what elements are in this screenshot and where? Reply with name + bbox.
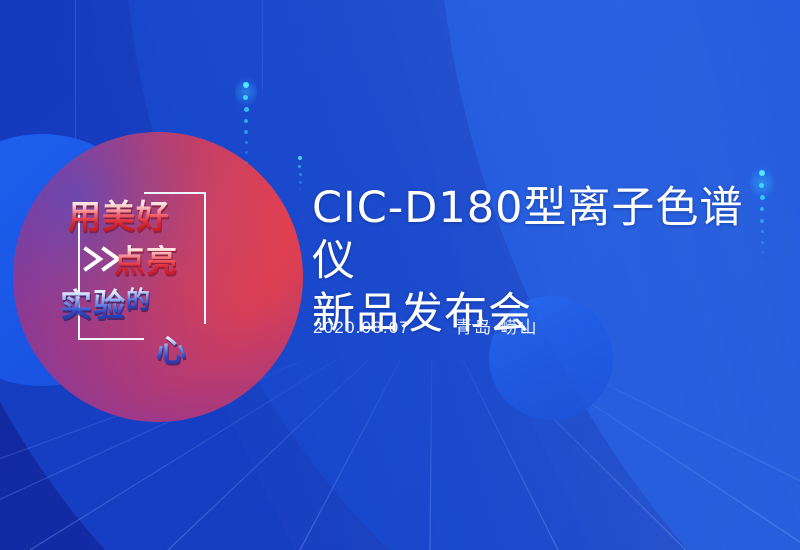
slogan-row-3: 实验的 — [60, 280, 151, 326]
dot-trail-glow-1 — [235, 74, 257, 110]
slogan-char: 实 — [60, 280, 93, 326]
slogan-emblem: 用美好 点亮 实验的 心 — [52, 168, 232, 368]
slogan-row-2: 点亮 — [114, 236, 178, 281]
headline-line-1: CIC-D180型离子色谱仪 — [312, 182, 782, 288]
slogan-char: 验 — [93, 280, 126, 326]
slogan-char: 的 — [126, 280, 151, 315]
slogan-char: 用 — [68, 190, 102, 238]
bracket-left-horizontal — [78, 338, 144, 340]
slogan-char: 点 — [114, 236, 146, 281]
slogan-row-4: 心 — [156, 326, 187, 370]
slogan-char: 心 — [156, 326, 187, 370]
event-location: 青岛·崂山 — [455, 313, 538, 338]
event-meta: 2020.08.07 青岛·崂山 — [313, 313, 539, 338]
slogan-char: 亮 — [146, 236, 178, 281]
bracket-right-vertical — [204, 194, 206, 324]
event-date: 2020.08.07 — [313, 318, 410, 338]
vertical-accent-line-2 — [262, 0, 263, 90]
slogan-char: 好 — [136, 190, 170, 238]
slogan-char: 美 — [102, 190, 136, 238]
event-poster: 用美好 点亮 实验的 心 CIC-D180型离子色谱仪 新品发布会 2020.0… — [0, 0, 800, 550]
slogan-row-1: 用美好 — [68, 190, 170, 238]
